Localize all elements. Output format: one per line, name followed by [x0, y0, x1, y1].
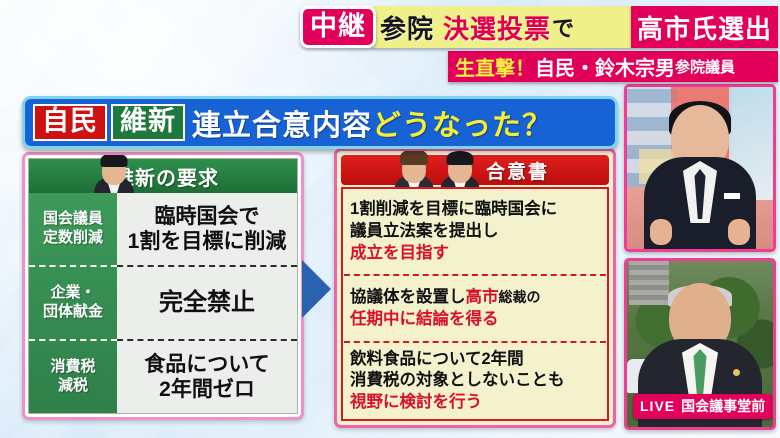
value-line-1: 臨時国会で — [155, 204, 260, 229]
headline-banner: 中継 参院 決選投票 で 高市氏選出 生直撃！ 自民・鈴木宗男 参院議員 — [300, 6, 778, 82]
mini-portrait — [91, 152, 137, 193]
headline-segment-sangiin: 参院 — [380, 9, 434, 46]
agreement-seg-black: 協議体を設置し — [350, 288, 466, 306]
table-row-value: 臨時国会で 1割を目標に削減 — [117, 193, 297, 265]
label-line-2: 団体献金 — [43, 303, 103, 322]
portrait-hair — [447, 151, 474, 165]
headline-row-secondary: 生直撃！ 自民・鈴木宗男 参院議員 — [448, 51, 778, 82]
ishin-demands-inner: 維新の要求 国会議員 定数削減 企業・ 団体献金 消費税 減税 臨時 — [28, 158, 298, 414]
label-line-2: 減税 — [58, 377, 88, 396]
title-text-white: 連立合意内容 — [192, 102, 372, 144]
diet-member-badge-icon — [733, 369, 740, 376]
agreement-body: 1割削減を目標に臨時国会に 議員立法案を提出し 成立を目指す 協議体を設置し高市… — [341, 187, 609, 421]
agreement-item: 飲料食品について2年間 消費税の対象としないことも 視野に検討を行う — [343, 343, 607, 419]
commentator-figure — [644, 157, 756, 249]
yoshimura-portrait — [437, 148, 483, 191]
headline-guest-title: 参院議員 — [675, 56, 735, 77]
diet-building — [629, 261, 669, 305]
live-location-text: 国会議事堂前 — [681, 396, 765, 416]
main-title-bar: 自民 維新 連立合意内容 どうなった？ — [22, 96, 618, 149]
figure-hand-left — [650, 219, 672, 245]
agreement-seg-red: 高市 — [466, 288, 499, 306]
headline-live-interview-label: 生直撃！ — [455, 52, 535, 81]
agreement-line-highlight: 成立を目指す — [350, 243, 601, 265]
ishin-demands-header: 維新の要求 — [29, 159, 297, 193]
headline-row-primary: 中継 参院 決選投票 で 高市氏選出 — [300, 6, 778, 48]
badge-ldp: 自民 — [33, 104, 107, 140]
title-text-yellow: どうなった？ — [372, 102, 552, 144]
headline-segment-de: で — [552, 11, 574, 43]
agreement-line: 1割削減を目標に臨時国会に — [350, 199, 601, 221]
badge-ishin: 維新 — [111, 104, 185, 140]
live-relay-chip: 中継 — [300, 6, 376, 48]
takaichi-portrait — [391, 148, 437, 191]
headline-guest-name: 自民・鈴木宗男 — [535, 52, 675, 81]
agreement-title: 合意書 — [486, 157, 549, 184]
agreement-item: 協議体を設置し高市総裁の 任期中に結論を得る — [343, 276, 607, 341]
figure-pocket-square — [724, 193, 740, 199]
outdoor-backdrop: LIVE 国会議事堂前 — [627, 261, 773, 427]
figure-hand-right — [728, 219, 750, 245]
ishin-demands-table: 国会議員 定数削減 企業・ 団体献金 消費税 減税 臨時国会で 1割を目標に削減 — [29, 193, 297, 413]
ishin-demands-value-column: 臨時国会で 1割を目標に削減 完全禁止 食品について 2年間ゼロ — [117, 193, 297, 413]
live-label: LIVE — [640, 398, 675, 414]
figure-suit — [644, 157, 756, 249]
label-line-1: 消費税 — [50, 358, 95, 377]
headline-result-chip: 高市氏選出 — [631, 6, 778, 48]
agreement-line-highlight: 任期中に結論を得る — [350, 309, 601, 331]
agreement-seg-small: 総裁の — [499, 289, 541, 305]
label-line-2: 定数削減 — [43, 229, 103, 248]
agreement-leaders-photos — [391, 148, 483, 189]
label-line-1: 国会議員 — [43, 210, 103, 229]
agreement-line: 消費税の対象としないことも — [350, 370, 601, 392]
agreement-header: 合意書 — [341, 155, 609, 185]
agreement-line: 議員立法案を提出し — [350, 221, 601, 243]
portrait-hair — [400, 149, 428, 165]
studio-commentator-video[interactable] — [624, 84, 776, 252]
value-line-2: 2年間ゼロ — [159, 377, 255, 402]
portrait-hair — [101, 153, 128, 167]
value-line-1: 完全禁止 — [159, 289, 255, 318]
table-row-label: 国会議員 定数削減 — [29, 193, 117, 265]
headline-yellow-band: 参院 決選投票 で — [372, 6, 631, 48]
table-row-label: 企業・ 団体献金 — [29, 265, 117, 339]
agreement-line: 協議体を設置し高市総裁の — [350, 287, 601, 309]
right-arrow-icon — [299, 258, 333, 320]
table-row-value: 食品について 2年間ゼロ — [117, 339, 297, 413]
ishin-leader-photo — [91, 152, 137, 193]
ishin-demands-label-column: 国会議員 定数削減 企業・ 団体献金 消費税 減税 — [29, 193, 117, 413]
ishin-demands-panel: 維新の要求 国会議員 定数削減 企業・ 団体献金 消費税 減税 臨時 — [22, 152, 304, 420]
live-reporter-video[interactable]: LIVE 国会議事堂前 — [624, 258, 776, 430]
studio-backdrop — [627, 87, 773, 249]
value-line-2: 1割を目標に削減 — [128, 229, 287, 254]
headline-segment-runoff: 決選投票 — [443, 9, 551, 46]
live-location-badge: LIVE 国会議事堂前 — [633, 394, 772, 419]
agreement-panel: 合意書 1割削減を目標に臨時国会に 議員立法案を提出し 成立を目指す 協議体を設… — [334, 148, 616, 428]
agreement-line: 飲料食品について2年間 — [350, 349, 601, 371]
value-line-1: 食品について — [144, 352, 269, 377]
label-line-1: 企業・ — [50, 284, 95, 303]
agreement-item: 1割削減を目標に臨時国会に 議員立法案を提出し 成立を目指す — [343, 189, 607, 274]
agreement-line-highlight: 視野に検討を行う — [350, 392, 601, 414]
table-row-label: 消費税 減税 — [29, 339, 117, 413]
table-row-value: 完全禁止 — [117, 265, 297, 339]
